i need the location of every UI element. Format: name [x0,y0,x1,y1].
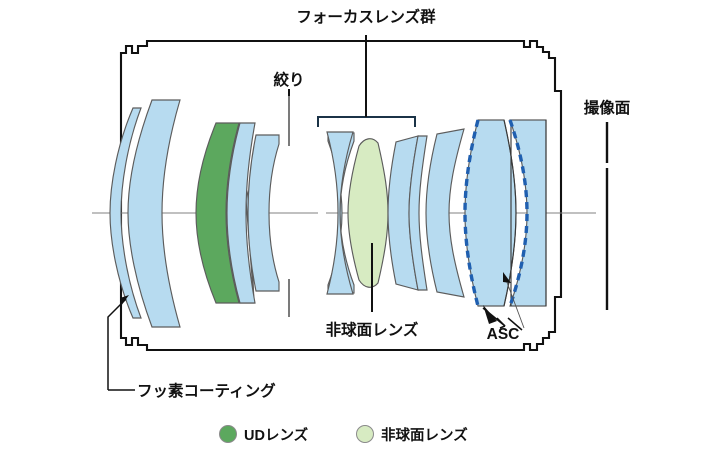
aperture-label: 絞り [273,70,304,89]
legend-label-aspherical: 非球面レンズ [381,426,468,444]
fluorine-leader [108,299,126,390]
ud-lens-swatch-icon [220,426,237,443]
image-plane-group: 撮像面 [584,98,631,310]
legend-item-aspherical: 非球面レンズ [357,426,469,445]
legend-label-ud: UDレンズ [244,426,309,444]
aperture-label-group: 絞り [273,70,304,96]
lens-element-7-aspherical [348,139,388,288]
fluorine-coating-label: フッ素コーティング [137,381,276,400]
focus-lens-group [327,132,427,294]
aspherical-lens-swatch-icon [357,426,374,443]
rear-lens-group [426,120,546,306]
focus-group-label: フォーカスレンズ群 [296,7,436,26]
focus-group-bracket: フォーカスレンズ群 [296,7,436,127]
lens-cross-section-diagram: 絞り フォーカスレンズ群 非球面レンズ [0,0,720,450]
legend-item-ud: UDレンズ [220,426,309,445]
legend: UDレンズ 非球面レンズ [220,426,469,445]
asc-arrow-1 [483,305,497,324]
aspherical-label: 非球面レンズ [326,320,419,339]
image-plane-label: 撮像面 [584,98,631,117]
asc-label: ASC [487,326,520,343]
